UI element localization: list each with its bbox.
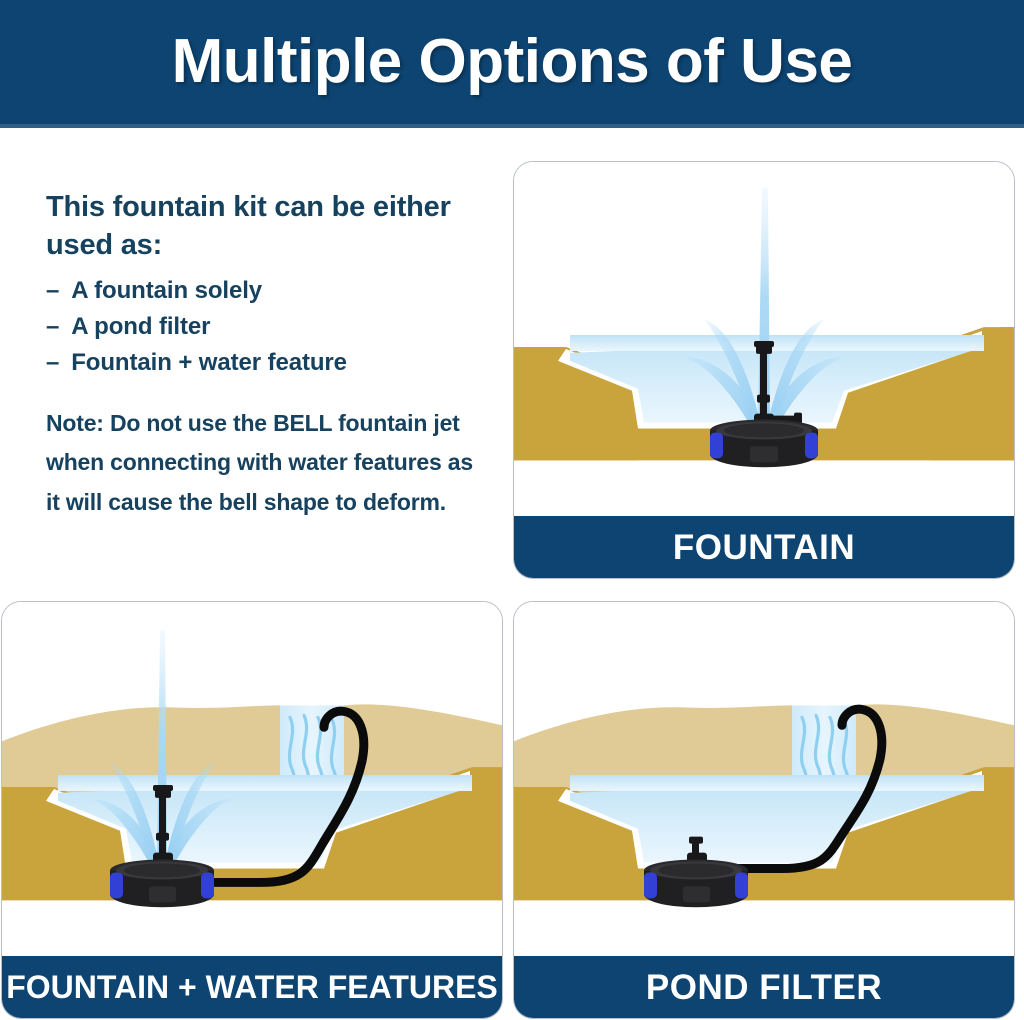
scene-pond-filter [514, 602, 1014, 956]
pump-accent-right [735, 872, 748, 898]
dash-marker: – [46, 309, 59, 345]
card-footer-label: FOUNTAIN + WATER FEATURES [6, 971, 498, 1003]
list-item-label: A fountain solely [71, 273, 262, 309]
pond-cross-section-illustration [2, 602, 502, 956]
dash-marker: – [46, 345, 59, 381]
pond-water-surface [570, 335, 984, 351]
card-footer-fountain: FOUNTAIN [514, 516, 1014, 578]
pump-accent-left [110, 872, 123, 898]
pond-cross-section-illustration [514, 602, 1014, 956]
note-paragraph: Note: Do not use the BELL fountain jet w… [46, 404, 486, 523]
pond-cross-section-illustration [514, 162, 1014, 516]
header-divider [0, 124, 1024, 128]
pump-accent-left [710, 432, 723, 458]
list-item: – A fountain solely [46, 273, 486, 309]
list-item-label: Fountain + water feature [71, 345, 347, 381]
copy-block: This fountain kit can be either used as:… [46, 188, 486, 523]
card-fountain-water-features: FOUNTAIN + WATER FEATURES [1, 601, 503, 1019]
list-item-label: A pond filter [71, 309, 210, 345]
pump-accent-left [644, 872, 657, 898]
list-item: – A pond filter [46, 309, 486, 345]
card-footer-fountain-water-features: FOUNTAIN + WATER FEATURES [2, 956, 502, 1018]
pump-accent-right [201, 872, 214, 898]
scene-fountain [514, 162, 1014, 516]
header-banner: Multiple Options of Use [0, 0, 1024, 124]
intro-heading: This fountain kit can be either used as: [46, 188, 486, 265]
dash-marker: – [46, 273, 59, 309]
card-fountain: FOUNTAIN [513, 161, 1015, 579]
page-title: Multiple Options of Use [172, 31, 853, 93]
card-footer-label: FOUNTAIN [673, 530, 855, 565]
pond-water-surface [570, 775, 984, 791]
card-pond-filter: POND FILTER [513, 601, 1015, 1019]
card-footer-pond-filter: POND FILTER [514, 956, 1014, 1018]
scene-fountain-water-features [2, 602, 502, 956]
list-item: – Fountain + water feature [46, 345, 486, 381]
pump-accent-right [805, 432, 818, 458]
card-footer-label: POND FILTER [646, 970, 882, 1005]
usage-options-list: – A fountain solely – A pond filter – Fo… [46, 273, 486, 382]
